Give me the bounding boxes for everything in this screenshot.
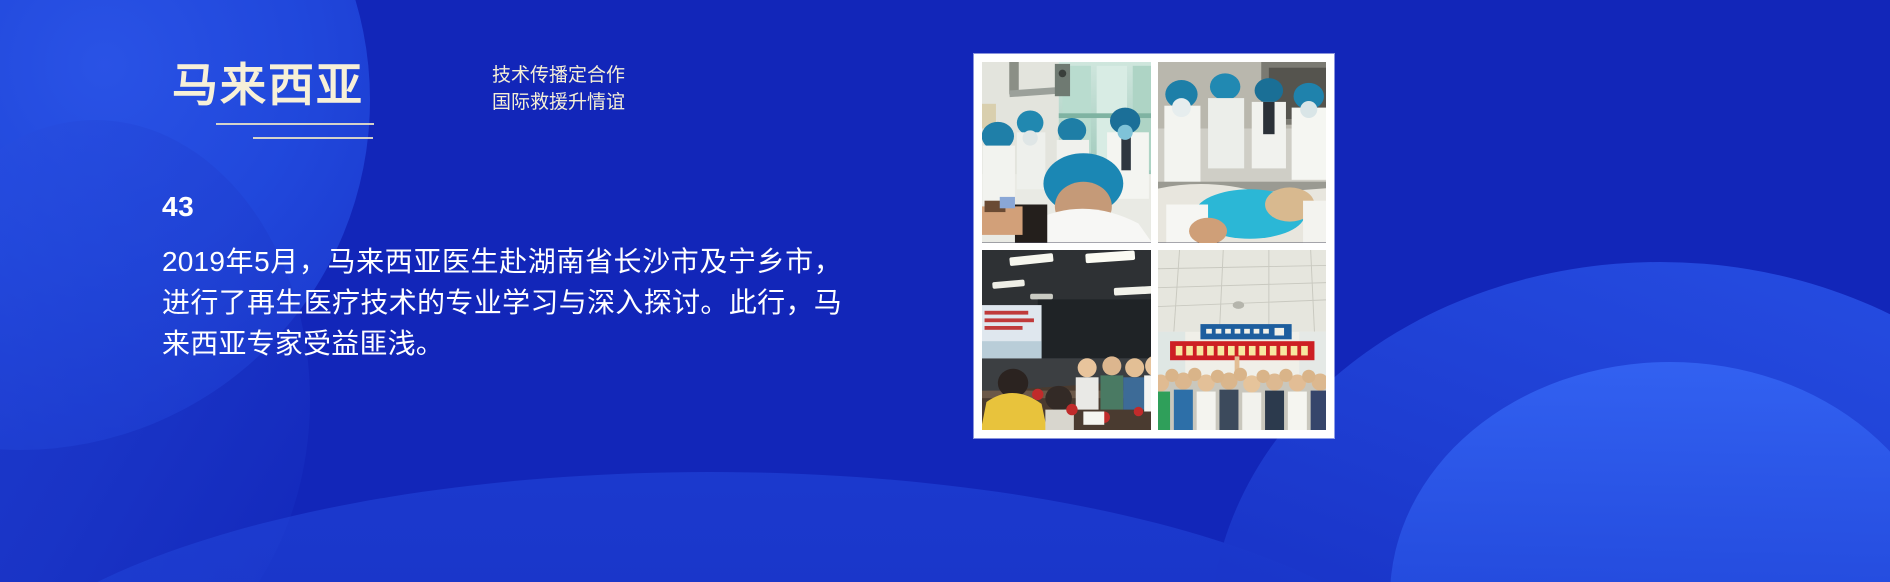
photo-collage-frame [974, 54, 1334, 438]
subtitle-line-2: 国际救援升情谊 [492, 89, 812, 116]
page-title: 马来西亚 [172, 62, 364, 108]
photo-conference-room [982, 250, 1151, 431]
slide-canvas: 马来西亚 技术传播定合作 国际救援升情谊 43 2019年5月，马来西亚医生赴湖… [0, 0, 1890, 582]
slide-body: 43 2019年5月，马来西亚医生赴湖南省长沙市及宁乡市，进行了再生医疗技术的专… [162, 192, 862, 364]
title-underline-long [216, 123, 374, 125]
body-paragraph: 2019年5月，马来西亚医生赴湖南省长沙市及宁乡市，进行了再生医疗技术的专业学习… [162, 241, 842, 364]
subtitle-line-1: 技术传播定合作 [492, 62, 812, 89]
decorative-blob-bottom-curve [0, 472, 1460, 582]
title-underline-short [253, 137, 373, 139]
photo-group-photo [1158, 250, 1327, 431]
photo-ward-round [982, 62, 1151, 243]
photo-grid [982, 62, 1326, 430]
photo-bedside-demo [1158, 62, 1327, 243]
slide-subtitle: 技术传播定合作 国际救援升情谊 [492, 62, 812, 116]
slide-header: 马来西亚 技术传播定合作 国际救援升情谊 [0, 0, 1000, 170]
decorative-blob-bottom-right-inner [1390, 362, 1890, 582]
item-number: 43 [162, 192, 862, 223]
